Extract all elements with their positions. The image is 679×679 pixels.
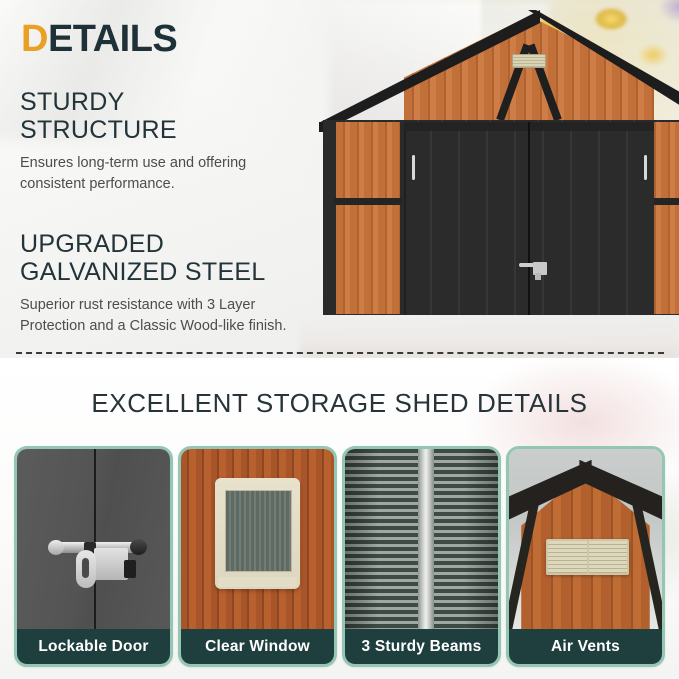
- beams-icon: [345, 449, 498, 629]
- slide-bolt-latch: [54, 534, 146, 592]
- shed-door-lock-icon: [519, 260, 551, 276]
- infographic-page: DETAILS STURDY STRUCTURE Ensures long-te…: [0, 0, 679, 679]
- shed-wood-panel-left: [336, 122, 400, 314]
- page-title-rest: ETAILS: [48, 18, 177, 60]
- card-label: Clear Window: [181, 629, 334, 664]
- feature-title: UPGRADED GALVANIZED STEEL: [20, 230, 287, 286]
- shed-trim-left: [334, 198, 402, 205]
- shed-gable-vent-icon: [512, 54, 546, 68]
- shed-illustration: [300, 0, 679, 340]
- window-frame: [215, 478, 301, 590]
- door-latch-icon: [17, 449, 170, 629]
- card-image: [345, 449, 498, 629]
- shed-details-section: EXCELLENT STORAGE SHED DETAILS: [0, 358, 679, 679]
- window-glass: [225, 490, 292, 572]
- lock-tab: [535, 273, 541, 280]
- detail-card-sturdy-beams[interactable]: 3 Sturdy Beams: [342, 446, 501, 667]
- shed-door-seam: [528, 122, 530, 315]
- louvered-vent: [546, 539, 630, 575]
- feature-block-galvanized-steel: UPGRADED GALVANIZED STEEL Superior rust …: [20, 230, 287, 336]
- beams-shadow-right: [464, 449, 498, 629]
- page-title: DETAILS: [21, 20, 177, 58]
- latch-black-block: [124, 560, 136, 578]
- page-title-accent-letter: D: [21, 18, 48, 60]
- section-heading: EXCELLENT STORAGE SHED DETAILS: [0, 388, 679, 419]
- latch-hasp-hole: [82, 558, 89, 578]
- latch-knob: [48, 540, 64, 555]
- vent-grille-icon: [509, 449, 662, 629]
- feature-title: STURDY STRUCTURE: [20, 88, 246, 144]
- window-sill: [218, 577, 297, 587]
- detail-card-clear-window[interactable]: Clear Window: [178, 446, 337, 667]
- card-image: [509, 449, 662, 629]
- latch-plate: [94, 548, 128, 580]
- latch-cap: [130, 539, 147, 555]
- feature-body: Ensures long-term use and offering consi…: [20, 153, 246, 194]
- feature-block-sturdy-structure: STURDY STRUCTURE Ensures long-term use a…: [20, 88, 246, 194]
- storage-shed-photo: [300, 0, 679, 340]
- details-section: DETAILS STURDY STRUCTURE Ensures long-te…: [0, 0, 679, 358]
- card-image: [17, 449, 170, 629]
- center-support-beam: [418, 449, 434, 629]
- detail-card-lockable-door[interactable]: Lockable Door: [14, 446, 173, 667]
- detail-cards-row: Lockable Door Clear Window: [14, 446, 665, 661]
- beams-shadow-left: [345, 449, 379, 629]
- dashed-divider: [16, 352, 664, 354]
- window-icon: [181, 449, 334, 629]
- card-image: [181, 449, 334, 629]
- card-label: Lockable Door: [17, 629, 170, 664]
- shed-door-handle-left: [412, 155, 415, 180]
- feature-body: Superior rust resistance with 3 Layer Pr…: [20, 295, 287, 336]
- card-label: 3 Sturdy Beams: [345, 629, 498, 664]
- card-label: Air Vents: [509, 629, 662, 664]
- shed-door-handle-right: [644, 155, 647, 180]
- detail-card-air-vents[interactable]: Air Vents: [506, 446, 665, 667]
